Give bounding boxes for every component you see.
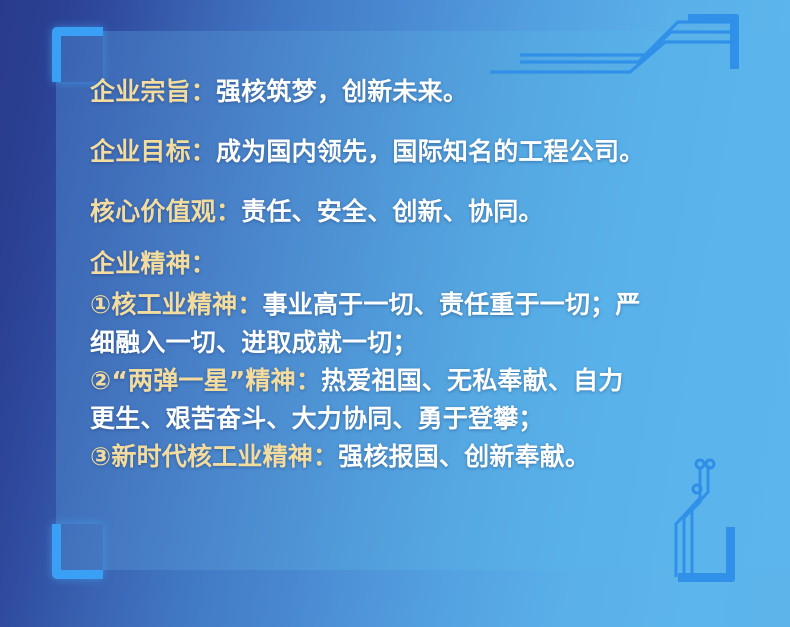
spirit-item-2-label: ②“两弹一星”精神： (90, 366, 321, 395)
spirit-item-2-line1: ②“两弹一星”精神：热爱祖国、无私奉献、自力 (90, 362, 730, 400)
spirit-item-1-label: ①核工业精神： (90, 290, 263, 319)
core-values-label: 核心价值观： (90, 197, 241, 226)
spirit-item-3: ③新时代核工业精神：强核报国、创新奉献。 (90, 438, 730, 476)
corner-bracket-bottom-right-icon (678, 527, 735, 582)
purpose-row: 企业宗旨：强核筑梦，创新未来。 (90, 62, 730, 122)
goal-text: 成为国内领先，国际知名的工程公司。 (216, 137, 644, 166)
spirit-item-3-text1: 强核报国、创新奉献。 (338, 442, 590, 471)
core-values-row: 核心价值观：责任、安全、创新、协同。 (90, 182, 730, 242)
spirit-item-2-text1: 热爱祖国、无私奉献、自力 (321, 366, 623, 395)
purpose-label: 企业宗旨： (90, 77, 216, 106)
spirit-item-1-line1: ①核工业精神：事业高于一切、责任重于一切；严 (90, 286, 730, 324)
spirit-item-2: ②“两弹一星”精神：热爱祖国、无私奉献、自力 更生、艰苦奋斗、大力协同、勇于登攀… (90, 362, 730, 438)
purpose-text: 强核筑梦，创新未来。 (216, 77, 468, 106)
corner-bracket-top-right-icon (688, 14, 739, 69)
goal-row: 企业目标：成为国内领先，国际知名的工程公司。 (90, 122, 730, 182)
slide-canvas: 企业宗旨：强核筑梦，创新未来。 企业目标：成为国内领先，国际知名的工程公司。 核… (0, 0, 790, 627)
spirit-item-1: ①核工业精神：事业高于一切、责任重于一切；严 细融入一切、进取成就一切； (90, 286, 730, 362)
goal-label: 企业目标： (90, 137, 216, 166)
spirit-heading: 企业精神： (90, 242, 730, 286)
spirit-item-2-line2: 更生、艰苦奋斗、大力协同、勇于登攀； (90, 400, 730, 438)
culture-text-block: 企业宗旨：强核筑梦，创新未来。 企业目标：成为国内领先，国际知名的工程公司。 核… (90, 62, 730, 476)
spirit-item-3-line1: ③新时代核工业精神：强核报国、创新奉献。 (90, 438, 730, 476)
spirit-item-1-text1: 事业高于一切、责任重于一切；严 (263, 290, 641, 319)
spirit-item-1-line2: 细融入一切、进取成就一切； (90, 324, 730, 362)
core-values-text: 责任、安全、创新、协同。 (241, 197, 543, 226)
spirit-item-3-label: ③新时代核工业精神： (90, 442, 338, 471)
corner-bracket-bottom-left-icon (52, 524, 103, 579)
